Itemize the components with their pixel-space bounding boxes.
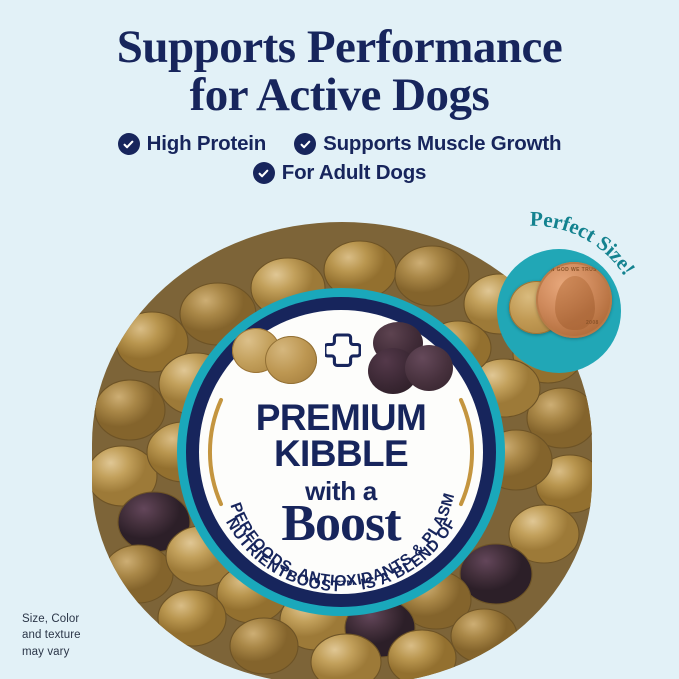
bullet-high-protein: High Protein xyxy=(118,132,266,156)
disclaimer-line-2: and texture xyxy=(22,627,81,643)
disclaimer-line-3: may vary xyxy=(22,644,81,660)
bullet-supports-muscle-growth: Supports Muscle Growth xyxy=(294,132,561,156)
bullet-row-2: For Adult Dogs xyxy=(0,161,679,185)
premium-kibble-badge: PREMIUM KIBBLE with a Boost NUTRIENTBOOS… xyxy=(177,288,505,616)
disclaimer-line-1: Size, Color xyxy=(22,611,81,627)
headline-line-1: Supports Performance xyxy=(0,24,679,72)
disclaimer-text: Size, Color and texture may vary xyxy=(22,611,81,660)
check-circle-icon xyxy=(294,133,316,155)
bullet-label: High Protein xyxy=(147,132,266,156)
check-circle-icon xyxy=(118,133,140,155)
bullet-for-adult-dogs: For Adult Dogs xyxy=(253,161,426,185)
curved-line-2: SUPERFOODS, ANTIOXIDANTS & PLASMA xyxy=(171,275,458,590)
penny-coin: IN GOD WE TRUST 2008 xyxy=(536,262,612,338)
coin-motto: IN GOD WE TRUST xyxy=(549,267,600,273)
badge-curved-text: NUTRIENTBOOST™ IS A BLEND OF SUPERFOODS,… xyxy=(177,288,505,616)
feature-bullets: High Protein Supports Muscle Growth For … xyxy=(0,132,679,190)
headline-line-2: for Active Dogs xyxy=(0,72,679,120)
coin-year: 2008 xyxy=(586,320,599,326)
bullet-label: Supports Muscle Growth xyxy=(323,132,561,156)
bullet-label: For Adult Dogs xyxy=(282,161,426,185)
check-circle-icon xyxy=(253,162,275,184)
bullet-row-1: High Protein Supports Muscle Growth xyxy=(0,132,679,156)
page-title: Supports Performance for Active Dogs xyxy=(0,24,679,120)
product-feature-image: Supports Performance for Active Dogs Hig… xyxy=(0,0,679,679)
